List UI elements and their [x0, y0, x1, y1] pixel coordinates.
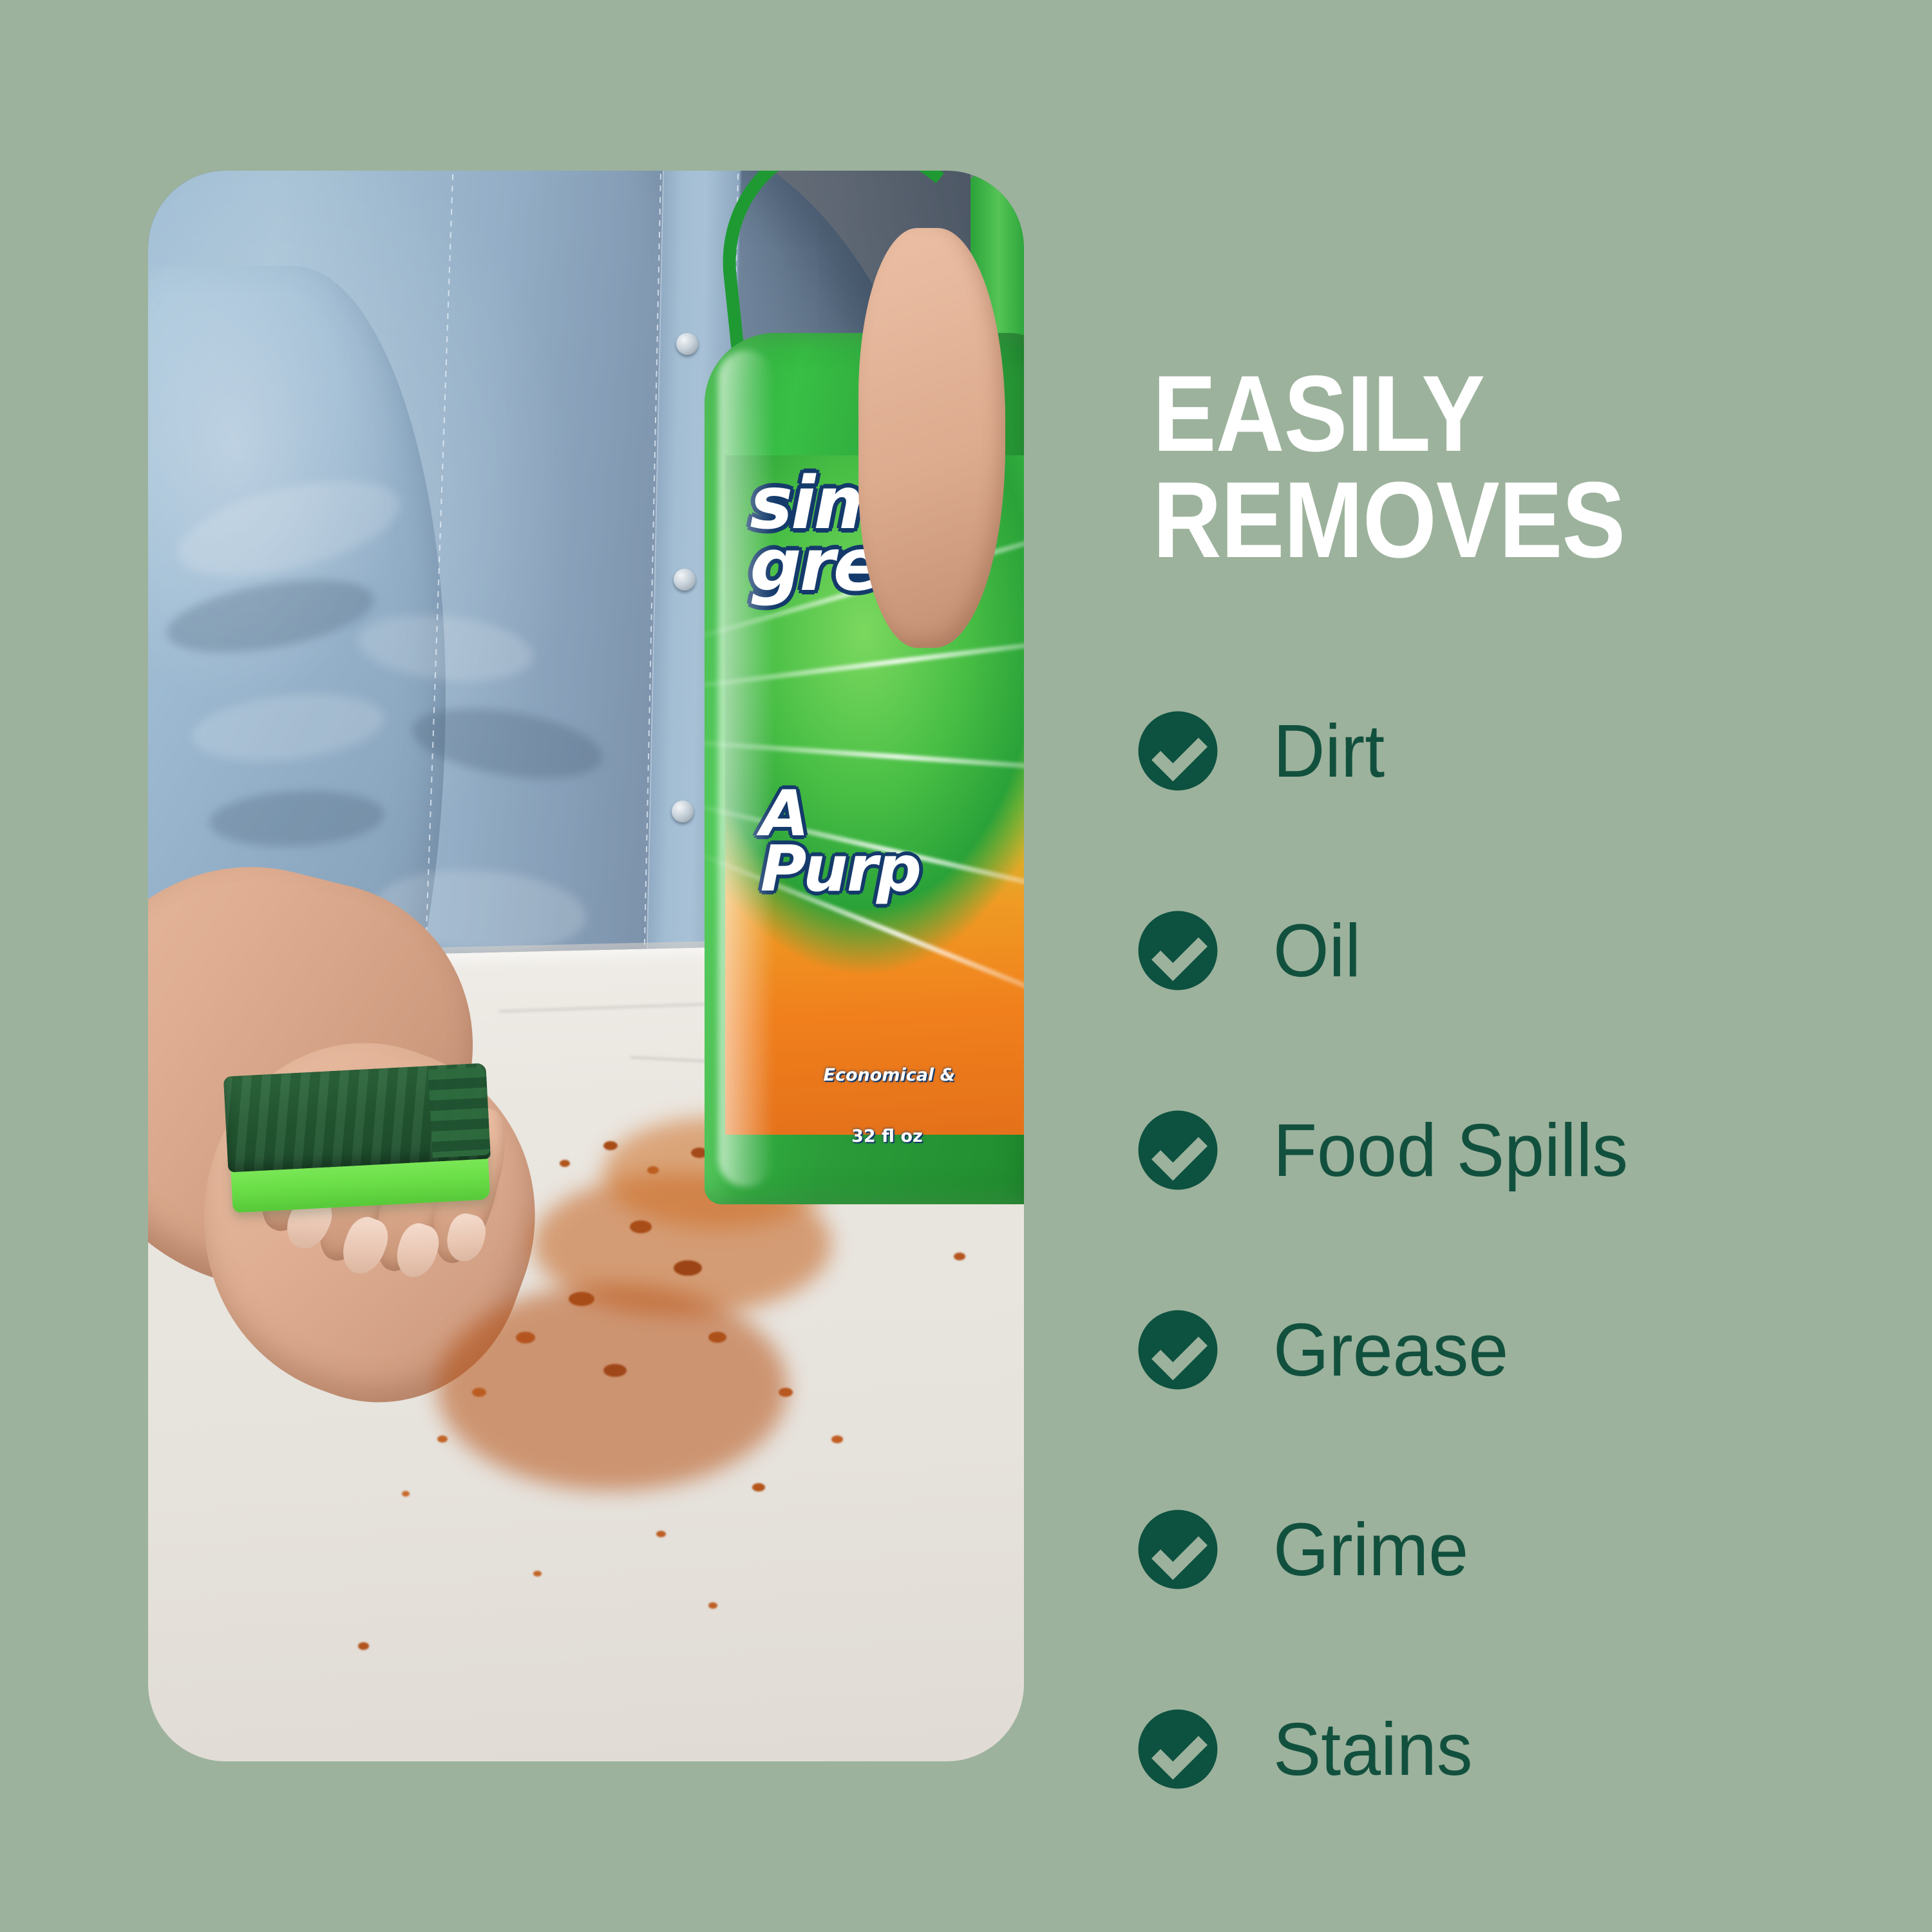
spill-cloud: [437, 1284, 788, 1491]
check-circle-icon: [1137, 710, 1219, 792]
check-circle-icon: [1137, 1508, 1219, 1591]
list-item-label: Food Spills: [1273, 1113, 1628, 1188]
product-line-2: Purp: [761, 833, 921, 906]
list-item-label: Oil: [1273, 913, 1361, 988]
spill-speck: [603, 1364, 627, 1377]
product-name-text: APurp: [761, 786, 921, 897]
sponge-scour-layer: [223, 1063, 491, 1172]
list-item-label: Dirt: [1273, 714, 1385, 788]
photo-inner: simgre APurp Economical & 32 fl oz: [148, 171, 1024, 1761]
feature-list: Dirt Oil Food Spills Grease Grime: [1137, 710, 1877, 1790]
list-item: Food Spills: [1137, 1109, 1877, 1191]
spill-speck: [752, 1483, 765, 1492]
spill-speck: [472, 1388, 486, 1397]
spill-speck: [831, 1435, 843, 1443]
simple-green-spray-bottle: simgre APurp Economical & 32 fl oz: [705, 171, 1024, 1205]
list-item-label: Grease: [1273, 1312, 1508, 1387]
content-column: EASILY REMOVES: [1153, 361, 1861, 573]
list-item: Grime: [1137, 1508, 1877, 1591]
list-item: Oil: [1137, 909, 1877, 992]
check-circle-icon: [1137, 1708, 1219, 1790]
spill-speck: [533, 1571, 542, 1577]
poster-canvas: simgre APurp Economical & 32 fl oz EASIL…: [0, 0, 1932, 1932]
spill-speck: [656, 1531, 666, 1537]
label-tagline: Economical &: [824, 1065, 956, 1085]
hand-gripping-bottle: [858, 228, 1005, 648]
spill-speck: [779, 1388, 793, 1397]
scrub-sponge: [223, 1063, 493, 1213]
check-circle-icon: [1137, 1109, 1219, 1191]
spill-speck: [358, 1642, 369, 1650]
check-circle-icon: [1137, 909, 1219, 992]
check-circle-icon: [1137, 1309, 1219, 1391]
list-item: Grease: [1137, 1309, 1877, 1391]
spill-speck: [437, 1435, 448, 1443]
list-item: Dirt: [1137, 710, 1877, 792]
spill-speck: [954, 1253, 965, 1260]
list-item-label: Grime: [1273, 1512, 1468, 1587]
spill-speck: [603, 1141, 618, 1150]
list-item: Stains: [1137, 1708, 1877, 1790]
product-lifestyle-photo: simgre APurp Economical & 32 fl oz: [148, 171, 1024, 1761]
page-title: EASILY REMOVES: [1153, 361, 1776, 573]
shirt-snap-button: [676, 333, 698, 355]
list-item-label: Stains: [1273, 1712, 1473, 1786]
sponge-wave-texture: [428, 1066, 491, 1157]
shirt-snap-button: [674, 569, 696, 591]
bottle-highlight: [718, 350, 774, 1187]
spill-speck: [674, 1260, 702, 1276]
label-net-contents: 32 fl oz: [851, 1126, 923, 1146]
